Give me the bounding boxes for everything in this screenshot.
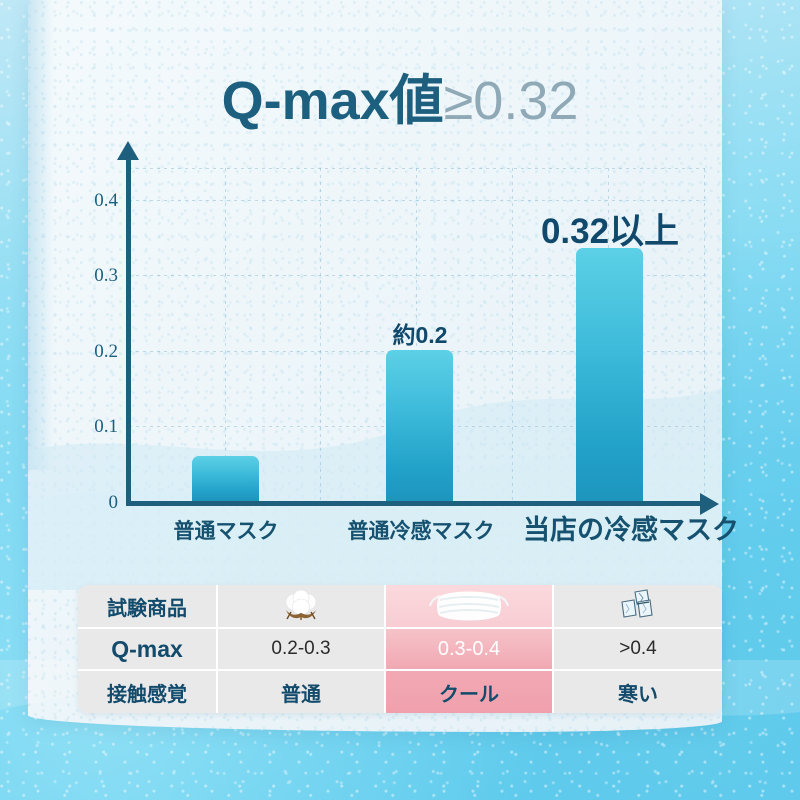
y-axis-arrow-icon (117, 141, 139, 160)
table-cell-product-mask (386, 585, 554, 629)
bar-chart: 0.4 0.3 0.2 0.1 0 約0.2 0.32以上 普通マスク 普通冷感… (0, 0, 800, 570)
cotton-boll-icon (280, 589, 322, 623)
table-cell-product-ice (554, 585, 722, 629)
x-axis (126, 501, 704, 506)
table-row-header-product: 試験商品 (78, 585, 218, 629)
gridline-v-2 (320, 168, 321, 505)
comparison-table: 試験商品 (78, 585, 722, 713)
table-cell-feel-cotton: 普通 (218, 671, 386, 713)
bar-normal-mask (192, 456, 259, 501)
bar-our-cooling-mask (576, 248, 643, 501)
gridline-v-1 (225, 168, 226, 505)
table-cell-product-cotton (218, 585, 386, 629)
x-label-our-cooling-mask: 当店の冷感マスク (500, 508, 762, 547)
bar-value-label-3: 0.32以上 (495, 203, 725, 254)
x-label-normal-mask: 普通マスク (150, 515, 302, 545)
table-cell-qmax-ice: >0.4 (554, 629, 722, 671)
table-row-header-feel: 接触感覚 (78, 671, 218, 713)
table-cell-qmax-mask: 0.3-0.4 (386, 629, 554, 671)
table-cell-feel-ice: 寒い (554, 671, 722, 713)
ice-cubes-icon (616, 589, 660, 623)
gridline-h-top (129, 168, 705, 169)
table-cell-feel-mask: クール (386, 671, 554, 713)
gridline-h-0.4 (129, 200, 705, 201)
face-mask-icon (428, 586, 510, 626)
y-axis (126, 158, 131, 506)
bar-normal-cooling-mask (386, 350, 453, 501)
bar-value-label-2: 約0.2 (346, 316, 494, 350)
table-row-header-qmax: Q-max (78, 629, 218, 671)
table-cell-qmax-cotton: 0.2-0.3 (218, 629, 386, 671)
poster-root: Q-max値≥0.32 0.4 0.3 0.2 0.1 (0, 0, 800, 800)
x-label-normal-cooling-mask: 普通冷感マスク (326, 515, 516, 545)
